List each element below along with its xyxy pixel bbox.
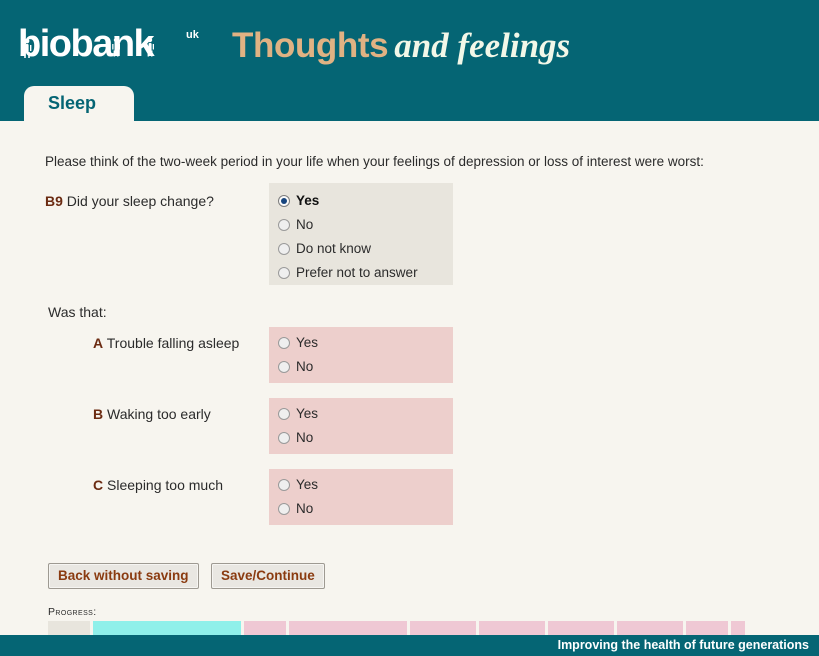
site-header: biobank uk [0, 0, 819, 86]
question-b9-label: B9 Did your sleep change? [45, 193, 214, 209]
option-b9-prefer-not-to-answer[interactable]: Prefer not to answer [269, 261, 453, 285]
option-b-yes[interactable]: Yes [269, 402, 453, 426]
option-c-no[interactable]: No [269, 497, 453, 521]
question-b-label: B Waking too early [93, 406, 211, 422]
question-b9-options: Yes No Do not know Prefer not to answer [269, 183, 453, 285]
progress-segment [686, 621, 728, 635]
progress-segment [548, 621, 614, 635]
progress-label: Progress: [48, 606, 808, 619]
question-c-label: C Sleeping too much [93, 477, 223, 493]
option-b9-do-not-know-label: Do not know [296, 241, 371, 256]
option-b9-yes-label: Yes [296, 193, 319, 208]
radio-icon[interactable] [278, 195, 290, 207]
option-b-yes-label: Yes [296, 406, 318, 421]
intro-text: Please think of the two-week period in y… [45, 154, 704, 169]
option-c-yes[interactable]: Yes [269, 473, 453, 497]
option-c-no-label: No [296, 501, 313, 516]
option-b9-no-label: No [296, 217, 313, 232]
question-c-code: C [93, 477, 103, 493]
progress-segment [617, 621, 683, 635]
option-b-no-label: No [296, 430, 313, 445]
option-b-no[interactable]: No [269, 426, 453, 450]
progress-segment [479, 621, 545, 635]
page-title-sub: and feelings [388, 26, 570, 65]
progress-segment [410, 621, 476, 635]
progress-segment [48, 621, 90, 635]
option-a-no-label: No [296, 359, 313, 374]
option-a-no[interactable]: No [269, 355, 453, 379]
question-b9-code: B9 [45, 193, 63, 209]
question-c-text: Sleeping too much [107, 477, 223, 493]
page-title-main: Thoughts [232, 26, 388, 65]
radio-icon[interactable] [278, 503, 290, 515]
option-b9-yes[interactable]: Yes [269, 189, 453, 213]
radio-icon[interactable] [278, 432, 290, 444]
progress-bar [48, 621, 748, 635]
option-a-yes[interactable]: Yes [269, 331, 453, 355]
progress-segment [244, 621, 286, 635]
tab-sleep[interactable]: Sleep [24, 86, 134, 121]
form-actions: Back without saving Save/Continue [48, 563, 333, 589]
option-b9-prefer-label: Prefer not to answer [296, 265, 418, 280]
radio-icon[interactable] [278, 337, 290, 349]
main-content: Please think of the two-week period in y… [0, 121, 819, 635]
radio-icon[interactable] [278, 479, 290, 491]
question-a-options: Yes No [269, 327, 453, 383]
question-b-text: Waking too early [107, 406, 211, 422]
question-a-label: A Trouble falling asleep [93, 335, 239, 351]
option-b9-do-not-know[interactable]: Do not know [269, 237, 453, 261]
question-b-code: B [93, 406, 103, 422]
radio-icon[interactable] [278, 219, 290, 231]
back-without-saving-button[interactable]: Back without saving [48, 563, 199, 589]
progress-segment [731, 621, 745, 635]
question-a-text: Trouble falling asleep [107, 335, 240, 351]
option-c-yes-label: Yes [296, 477, 318, 492]
svg-text:uk: uk [186, 29, 200, 41]
site-footer: Improving the health of future generatio… [0, 635, 819, 656]
sub-heading: Was that: [48, 304, 107, 320]
svg-text:biobank: biobank [18, 23, 156, 65]
radio-icon[interactable] [278, 408, 290, 420]
question-a-code: A [93, 335, 103, 351]
question-b9-text: Did your sleep change? [67, 193, 214, 209]
progress-segment-current [93, 621, 241, 635]
option-b9-no[interactable]: No [269, 213, 453, 237]
footer-tagline: Improving the health of future generatio… [558, 638, 809, 652]
page-title: Thoughtsand feelings [232, 26, 570, 74]
radio-icon[interactable] [278, 267, 290, 279]
tab-sleep-label: Sleep [48, 93, 96, 114]
option-a-yes-label: Yes [296, 335, 318, 350]
radio-icon[interactable] [278, 361, 290, 373]
save-continue-button[interactable]: Save/Continue [211, 563, 325, 589]
tab-bar: Sleep [0, 86, 819, 121]
progress-segment [289, 621, 407, 635]
page-root: biobank uk [0, 0, 819, 656]
question-b-options: Yes No [269, 398, 453, 454]
biobank-logo: biobank uk [18, 22, 218, 68]
progress-section: Progress: [48, 606, 808, 635]
question-c-options: Yes No [269, 469, 453, 525]
radio-icon[interactable] [278, 243, 290, 255]
